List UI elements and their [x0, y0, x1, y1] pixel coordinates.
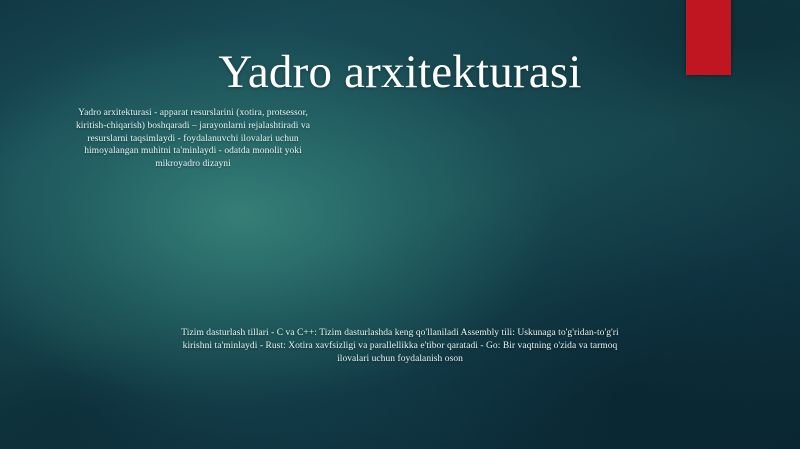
- top-text-line: mikroyadro dizayni: [28, 158, 358, 171]
- top-text-line: Yadro arxitekturasi - apparat resurslari…: [28, 107, 358, 120]
- bottom-text-block: Tizim dasturlash tillari - C va C++: Tiz…: [108, 327, 692, 366]
- bottom-text-line: ilovalari uchun foydalanish oson: [108, 353, 692, 366]
- bottom-text-line: kirishni ta'minlaydi - Rust: Xotira xavf…: [108, 340, 692, 353]
- top-text-line: himoyalangan muhitni ta'minlaydi - odatd…: [28, 145, 358, 158]
- slide-title: Yadro arxitekturasi: [0, 45, 800, 100]
- presentation-slide: Yadro arxitekturasi Yadro arxitekturasi …: [0, 0, 800, 449]
- top-text-line: kiritish-chiqarish) boshqaradi – jarayon…: [28, 120, 358, 133]
- bottom-text-line: Tizim dasturlash tillari - C va C++: Tiz…: [108, 327, 692, 340]
- top-text-block: Yadro arxitekturasi - apparat resurslari…: [28, 107, 358, 171]
- top-text-line: resurslarni taqsimlaydi - foydalanuvchi …: [28, 133, 358, 146]
